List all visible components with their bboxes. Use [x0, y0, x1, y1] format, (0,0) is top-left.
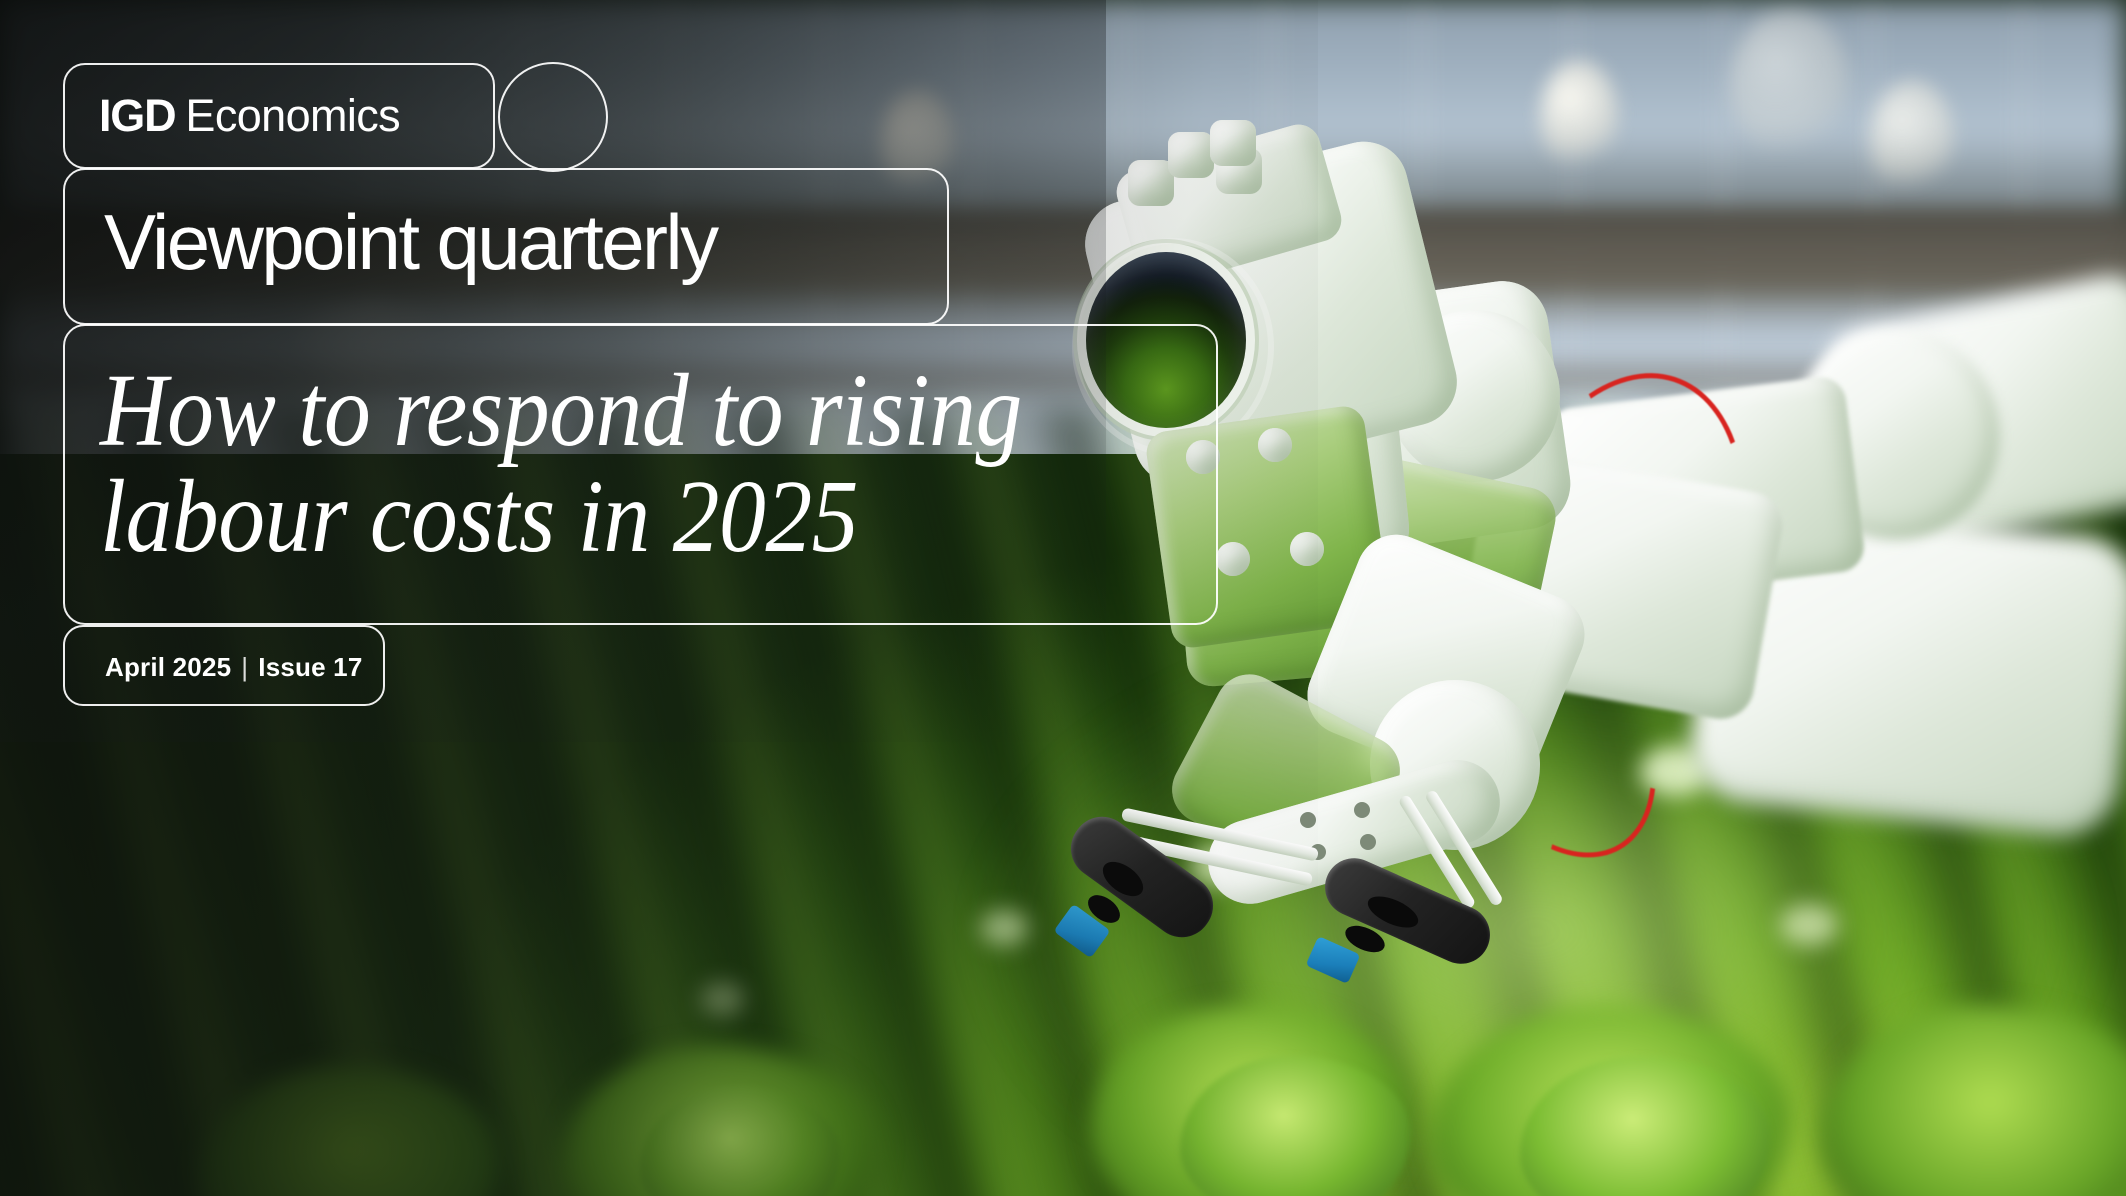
crop-bokeh [1360, 730, 1420, 776]
brand-logo-text: IGDEconomics [99, 93, 400, 138]
bokeh-light [1540, 60, 1618, 172]
issue-separator: | [241, 652, 248, 683]
circle-outline-icon [498, 62, 608, 172]
crop-bokeh [1780, 904, 1838, 946]
issue-number: Issue 17 [258, 652, 362, 682]
headline-line-2: labour costs in 2025 [100, 464, 1081, 570]
bokeh-light [1730, 10, 1850, 160]
series-title: Viewpoint quarterly [104, 203, 717, 281]
headline: How to respond to rising labour costs in… [100, 358, 1081, 570]
report-cover: IGDEconomics Viewpoint quarterly How to … [0, 0, 2126, 1196]
issue-badge: April 2025|Issue 17 [105, 652, 363, 683]
issue-date: April 2025 [105, 652, 231, 682]
brand-name-bold: IGD [99, 90, 175, 141]
crop-bokeh [1930, 708, 1996, 756]
crop-bokeh [1640, 746, 1710, 796]
bokeh-light [1870, 80, 1954, 196]
headline-line-1: How to respond to rising [100, 358, 1081, 464]
brand-name-regular: Economics [185, 90, 400, 141]
